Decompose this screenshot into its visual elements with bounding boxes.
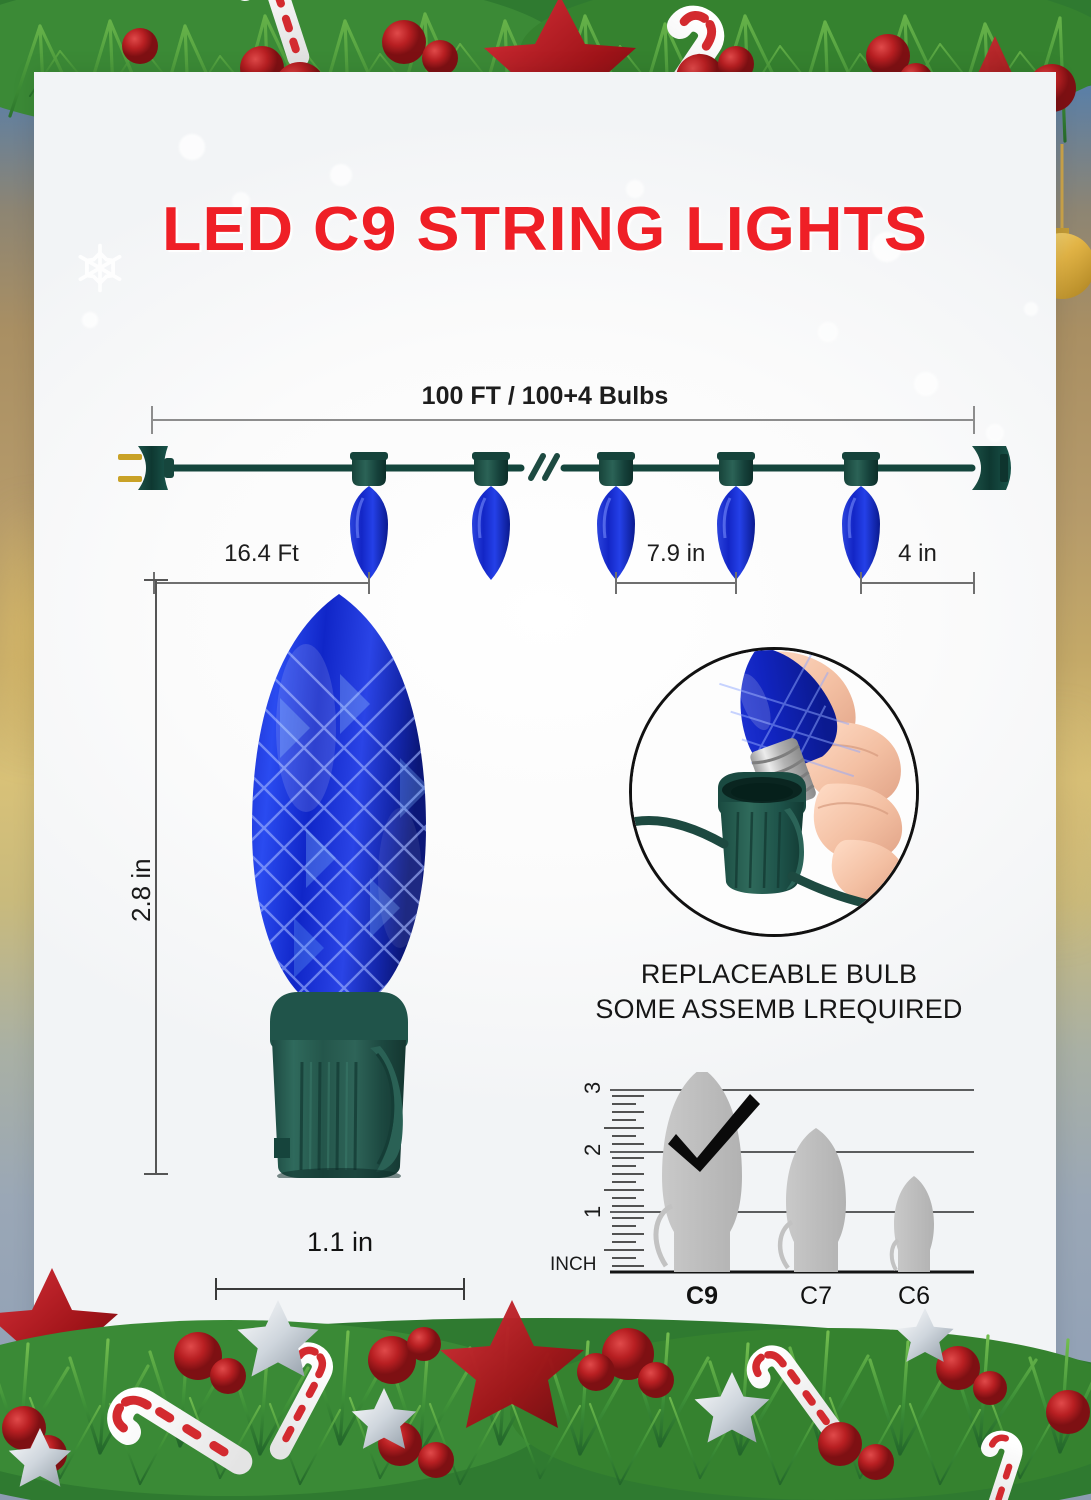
lead-length-label: 16.4 Ft [154, 540, 369, 568]
bulb-size-comparison-chart: 3 2 1 INCH C9 C7 C6 [554, 1072, 974, 1332]
product-card: LED C9 STRING LIGHTS 100 FT / 100+4 Bulb… [34, 72, 1056, 1424]
silhouette-c9 [656, 1072, 742, 1272]
bulb-height-label: 2.8 in [126, 858, 157, 922]
silhouette-c7 [780, 1128, 846, 1272]
ruler-ticks [604, 1096, 644, 1266]
callout-caption: REPLACEABLE BULB SOME ASSEMB LREQUIRED [554, 957, 1004, 1026]
size-label-c7: C7 [776, 1282, 856, 1311]
wire-break-symbol [531, 456, 557, 478]
bokeh-dot [1024, 302, 1038, 316]
bulb-width-label: 1.1 in [210, 1227, 470, 1258]
ruler-unit-label: INCH [550, 1254, 596, 1276]
plug-female [972, 446, 1011, 490]
candy-cane-bottom [971, 1435, 1017, 1500]
tail-length-label: 4 in [861, 540, 974, 568]
c9-bulb-large [194, 578, 484, 1178]
string-light-diagram: 100 FT / 100+4 Bulbs [34, 372, 1056, 602]
ruler-number-3: 3 [580, 1082, 606, 1094]
bokeh-dot [818, 322, 838, 342]
plug-male [118, 446, 174, 490]
ruler-number-1: 1 [580, 1206, 606, 1218]
total-dimension-line [152, 406, 974, 434]
bokeh-dot [82, 312, 98, 328]
size-label-c9: C9 [662, 1282, 742, 1311]
ruler-number-2: 2 [580, 1144, 606, 1156]
callout-line-2: SOME ASSEMB LREQUIRED [554, 992, 1004, 1027]
page-title: LED C9 STRING LIGHTS [34, 194, 1056, 265]
size-label-c6: C6 [874, 1282, 954, 1311]
infographic-page: LED C9 STRING LIGHTS 100 FT / 100+4 Bulb… [0, 0, 1091, 1500]
replaceable-bulb-callout [629, 647, 919, 937]
candy-cane [239, 0, 298, 66]
width-dimension-line [210, 1272, 470, 1302]
bulb-spacing-label: 7.9 in [616, 540, 736, 568]
callout-illustration [632, 650, 919, 937]
bulb-detail-section: 2.8 in [34, 572, 1056, 1292]
callout-line-1: REPLACEABLE BULB [554, 957, 1004, 992]
silhouette-c6 [892, 1176, 934, 1272]
bokeh-dot [179, 134, 205, 160]
bokeh-dot [330, 164, 352, 186]
